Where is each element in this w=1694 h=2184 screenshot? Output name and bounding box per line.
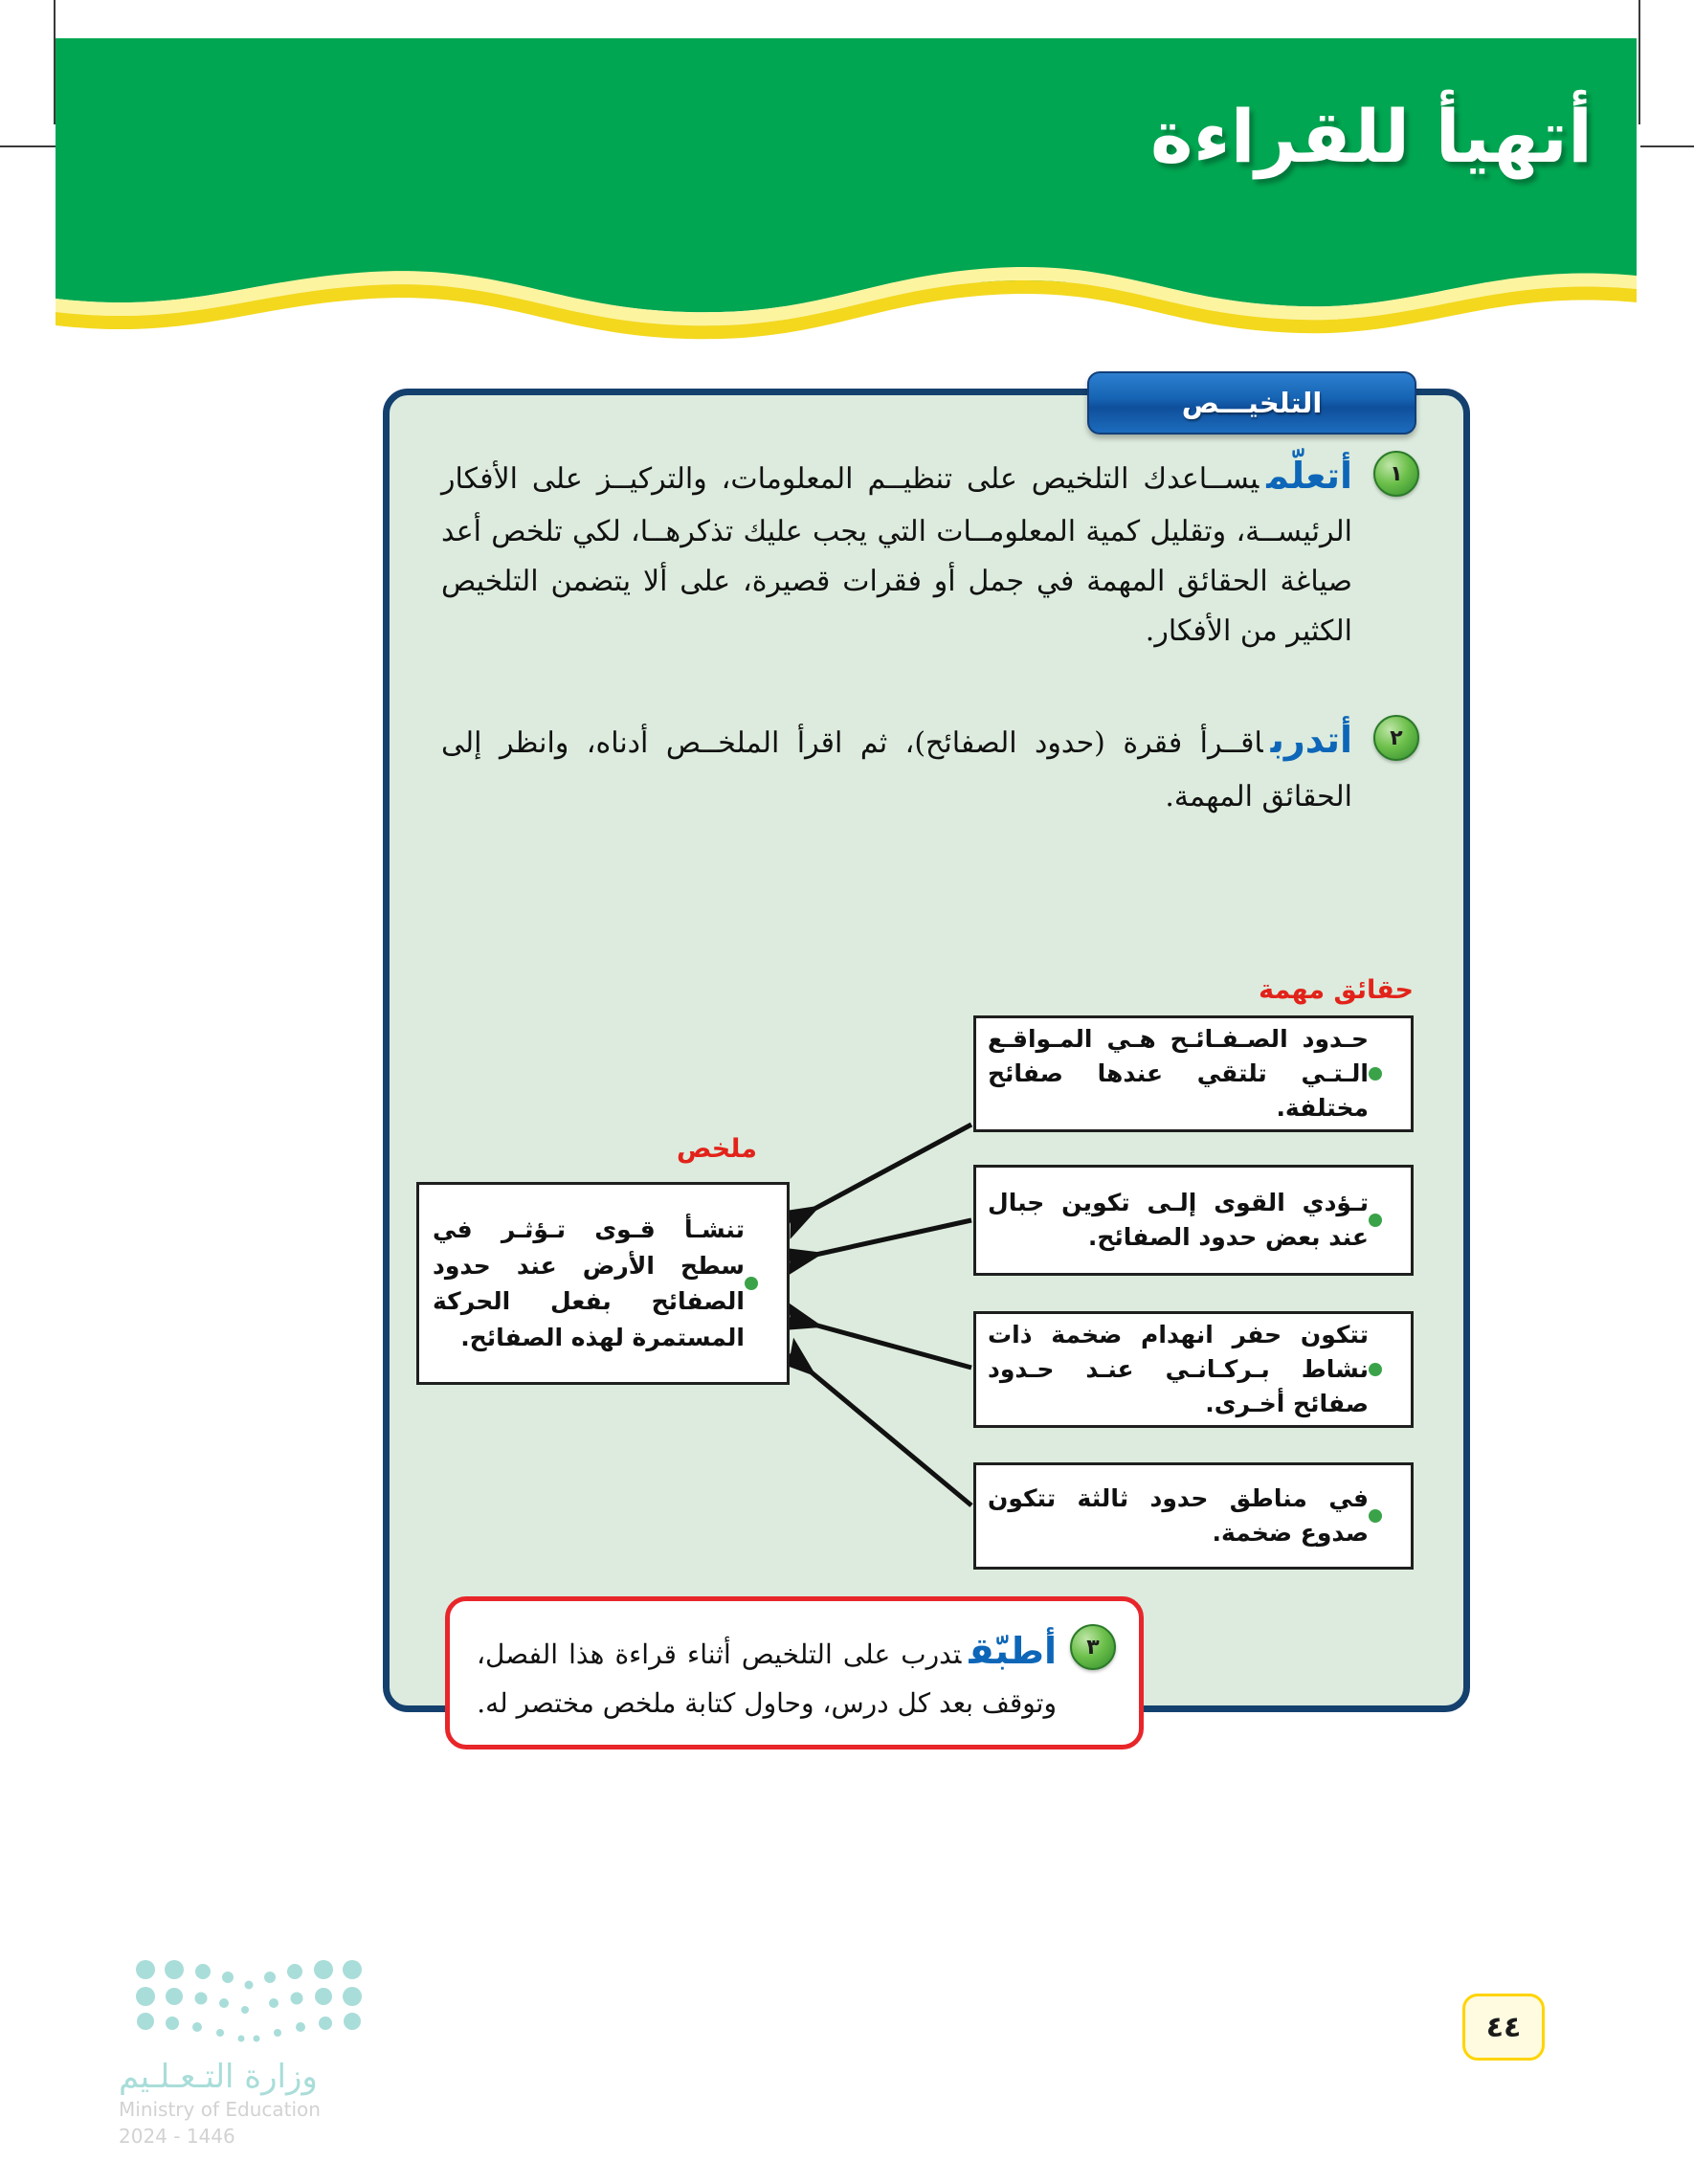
- page-header-band: أتهيأ للقراءة: [56, 38, 1637, 282]
- step-number-badge: ٣: [1070, 1624, 1116, 1670]
- summarizing-diagram: حقائق مهمة ملخص حـدود الصـفـائـح هـي الم…: [390, 981, 1450, 1584]
- step-apply: ٣ أطبّقتدرب على التلخيص أثناء قراءة هذا …: [477, 1622, 1112, 1725]
- step-learn-keyword: أتعلّم: [1266, 455, 1352, 497]
- step-practice-text: اقــرأ فقرة (حدود الصفائح)، ثم اقرأ المل…: [441, 726, 1352, 813]
- header-wave-decoration: [56, 256, 1637, 343]
- fact-box: ﻓﻲ مناطق حدود ثالثة تتكون صدوع ضخمة.: [973, 1462, 1414, 1570]
- moe-palm-dots-icon: [105, 1952, 392, 2053]
- bullet-icon: [1369, 1214, 1382, 1227]
- facts-heading: حقائق مهمة: [1259, 975, 1414, 1005]
- step-learn-body: أتعلّميســاعدك التلخيص على تنظيــم المعل…: [441, 445, 1412, 656]
- step-number-badge: ١: [1373, 451, 1419, 497]
- fact-box: تـؤدي القوى إلـى تكوين جبال عند بعض حدود…: [973, 1165, 1414, 1276]
- fact-box: حـدود الصـفـائـح هـي المـواقـع الـتـي تل…: [973, 1015, 1414, 1132]
- summary-box: تنشـأ قـوى تـؤثـر ﻓﻲ سطح الأرض عند حدود …: [416, 1182, 790, 1385]
- step-learn-text: يســاعدك التلخيص على تنظيــم المعلومات، …: [441, 462, 1352, 648]
- step-learn: ١ أتعلّميســاعدك التلخيص على تنظيــم الم…: [441, 445, 1412, 656]
- ministry-name-english: Ministry of Education: [119, 2098, 321, 2121]
- fact-text: ﻓﻲ مناطق حدود ثالثة تتكون صدوع ضخمة.: [988, 1482, 1369, 1551]
- apply-step-box: ٣ أطبّقتدرب على التلخيص أثناء قراءة هذا …: [445, 1596, 1144, 1749]
- summary-text: تنشـأ قـوى تـؤثـر ﻓﻲ سطح الأرض عند حدود …: [433, 1212, 745, 1355]
- section-tab-summarizing[interactable]: التلخيـــص: [1087, 371, 1416, 435]
- step-practice: ٢ أتدرباقــرأ فقرة (حدود الصفائح)، ثم اق…: [441, 709, 1412, 821]
- summary-heading: ملخص: [677, 1134, 757, 1164]
- ministry-of-education-logo: وزارة التـعـلـيم Ministry of Education 2…: [105, 1952, 392, 2153]
- ministry-year: 2024 - 1446: [119, 2125, 235, 2148]
- page-number-badge: ٤٤: [1462, 1994, 1545, 2061]
- bullet-icon: [1369, 1509, 1382, 1523]
- fact-text: حـدود الصـفـائـح هـي المـواقـع الـتـي تل…: [988, 1022, 1369, 1126]
- ministry-name-arabic: وزارة التـعـلـيم: [119, 2058, 318, 2096]
- step-apply-keyword: أطبّق: [969, 1630, 1057, 1672]
- crop-mark-top-right-vertical: [1638, 0, 1640, 124]
- bullet-icon: [1369, 1363, 1382, 1376]
- fact-box: تتكون حفر انهدام ضخمة ذات نشاط بـركـانـي…: [973, 1311, 1414, 1428]
- wave-svg: [56, 256, 1637, 343]
- section-tab-label: التلخيـــص: [1182, 387, 1323, 419]
- step-apply-body: أطبّقتدرب على التلخيص أثناء قراءة هذا ال…: [477, 1622, 1112, 1725]
- fact-text: تتكون حفر انهدام ضخمة ذات نشاط بـركـانـي…: [988, 1318, 1369, 1422]
- card-inner: ١ أتعلّميســاعدك التلخيص على تنظيــم الم…: [390, 395, 1463, 1705]
- step-number-badge: ٢: [1373, 715, 1419, 761]
- reading-strategy-card: ١ أتعلّميســاعدك التلخيص على تنظيــم الم…: [383, 389, 1470, 1712]
- step-practice-keyword: أتدرب: [1271, 719, 1352, 761]
- page-title: أتهيأ للقراءة: [1150, 94, 1593, 179]
- crop-mark-top-right-horizontal: [1640, 145, 1694, 147]
- bullet-icon: [745, 1277, 758, 1290]
- bullet-icon: [1369, 1067, 1382, 1081]
- fact-text: تـؤدي القوى إلـى تكوين جبال عند بعض حدود…: [988, 1186, 1369, 1256]
- step-practice-body: أتدرباقــرأ فقرة (حدود الصفائح)، ثم اقرأ…: [441, 709, 1412, 821]
